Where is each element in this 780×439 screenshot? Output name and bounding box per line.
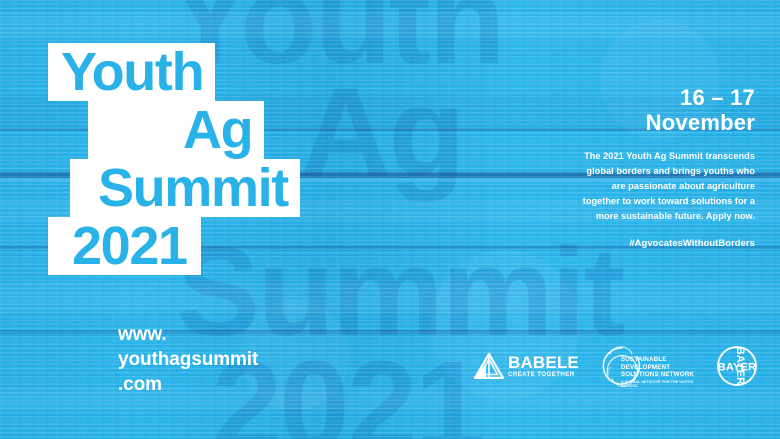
babele-logo[interactable]: BABELE CREATE TOGETHER [474,353,579,379]
website-url-line1: www. [118,322,258,347]
logo-line-youth: Youth [48,43,215,101]
bayer-logo[interactable]: BAYER BAYER [716,345,758,387]
babele-wordmark: BABELE CREATE TOGETHER [508,354,579,378]
website-url-line3: .com [118,372,258,397]
logo-line-summit: Summit [70,159,300,217]
event-hashtag: #AgvocatesWithoutBorders [575,237,755,248]
website-url-line2: youthagsummit [118,347,258,372]
event-description: The 2021 Youth Ag Summit transcends glob… [575,149,755,224]
babele-triangle-icon [474,353,504,379]
svg-text:BAYER: BAYER [734,347,746,386]
babele-tagline: CREATE TOGETHER [508,372,579,378]
logo-line-2021: 2021 [48,217,201,275]
poster-canvas: Youth Ag Summit 2021 Youth Ag Summit 202… [0,0,780,439]
sdsn-wordmark: SUSTAINABLE DEVELOPMENT SOLUTIONS NETWOR… [621,356,703,389]
event-dates-days: 16 – 17 [575,86,755,111]
logo-line-ag: Ag [88,101,264,159]
event-dates-month: November [575,111,755,136]
sdsn-line2: SOLUTIONS NETWORK [621,371,703,379]
sdsn-line1: SUSTAINABLE DEVELOPMENT [621,356,703,371]
event-dates: 16 – 17 November [575,86,755,135]
sdsn-line3: A GLOBAL INITIATIVE FOR THE UNITED NATIO… [621,380,703,389]
babele-name: BABELE [508,354,579,371]
bayer-cross-icon: BAYER BAYER [716,345,758,387]
website-url[interactable]: www. youthagsummit .com [118,322,258,397]
event-details: 16 – 17 November The 2021 Youth Ag Summi… [575,86,755,248]
partner-logos: BABELE CREATE TOGETHER SUST [474,344,758,388]
sdsn-logo[interactable]: SUSTAINABLE DEVELOPMENT SOLUTIONS NETWOR… [601,345,694,387]
